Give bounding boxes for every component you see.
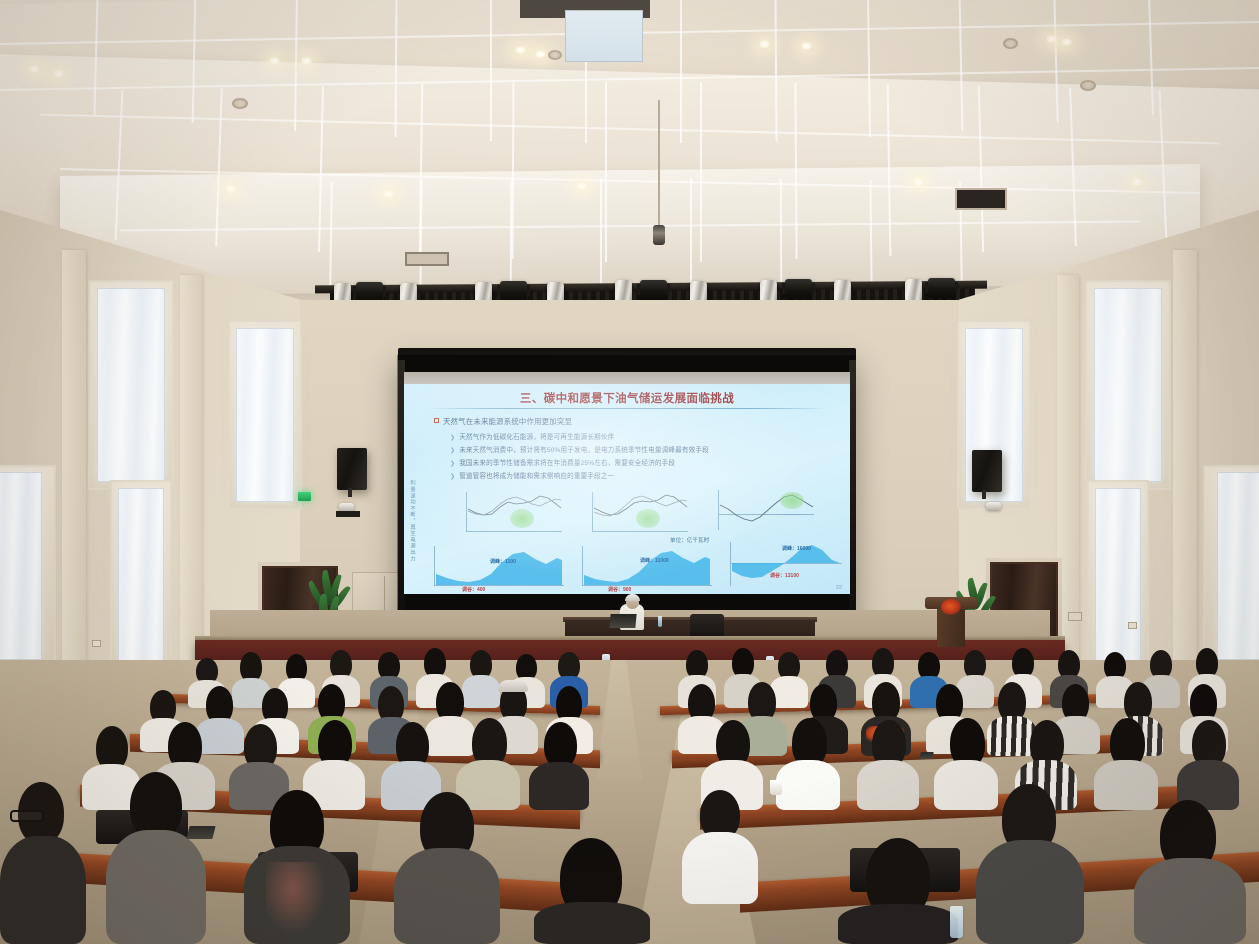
audience-person-torso <box>976 840 1084 944</box>
university-emblem-icon <box>941 599 961 615</box>
ceiling-vent <box>232 98 248 109</box>
ceiling-downlight <box>800 42 813 51</box>
presentation-slide: 三、碳中和愿景下油气储运发展面临挑战 天然气在未来能源系统中作用更加突显 ❯天然… <box>404 384 850 594</box>
ceiling-grid-line <box>600 178 602 292</box>
security-camera-right <box>986 502 1001 510</box>
ceiling-downlight <box>1045 35 1058 44</box>
slide-sub-bullet-2-text: 未来天然气消费中，预计将有50%用于发电，是电力系统季节性电量调峰最有效手段 <box>459 447 709 454</box>
chart-x-label <box>513 534 514 539</box>
bullet-square-icon <box>434 418 439 423</box>
slide-sub-bullet-4-text: 管道管容也将成为储能和需求侧响应的重要手段之一 <box>459 473 614 480</box>
ceiling-vent <box>1080 80 1096 91</box>
chart-highlight-blob <box>636 509 660 528</box>
ceiling-skylight-panel <box>565 10 643 62</box>
slide-area-chart-3: 调峰：16000 调谷：13100 <box>730 542 842 586</box>
stage-spotlight-fresnel <box>500 281 527 301</box>
ceiling-vent <box>548 50 562 60</box>
slide-line-chart-2 <box>592 492 688 532</box>
presenter-hair <box>625 594 640 601</box>
slide-area-chart-1: 调峰：1100 调谷：400 <box>434 546 564 586</box>
ceiling-downlight <box>52 70 65 79</box>
ceiling-downlight <box>28 65 41 74</box>
chevron-right-icon: ❯ <box>450 435 455 441</box>
wall-outlet <box>92 640 101 647</box>
slide-line-chart-3 <box>718 490 814 530</box>
exit-sign-icon <box>298 492 311 501</box>
wall-pilaster <box>1173 250 1197 680</box>
empty-chair-on-stage <box>690 614 724 638</box>
ceiling-downlight <box>1130 178 1143 187</box>
water-bottle-on-table <box>658 616 662 627</box>
presenter-laptop <box>609 614 636 628</box>
audience-person-torso <box>529 762 589 810</box>
window-panel <box>1217 472 1259 660</box>
slide-title: 三、碳中和愿景下油气储运发展面临挑战 <box>404 390 850 406</box>
ceiling-downlight <box>912 178 925 187</box>
ceiling-downlight <box>1060 38 1073 47</box>
slide-sub-bullet-1: ❯天然气作为低碳化石能源，将是可再生能源长期伙伴 <box>450 431 614 441</box>
window-panel <box>0 472 42 660</box>
slide-sub-bullet-1-text: 天然气作为低碳化石能源，将是可再生能源长期伙伴 <box>459 434 614 441</box>
stage-spotlight-fresnel <box>928 278 955 298</box>
auditorium-scene: 三、碳中和愿景下油气储运发展面临挑战 天然气在未来能源系统中作用更加突显 ❯天然… <box>0 0 1259 944</box>
slide-sub-bullet-3-text: 我国未来的季节性储备需求将在年消费量25%左右，需要安全经济的手段 <box>459 460 675 467</box>
ceiling-downlight <box>224 185 237 194</box>
wall-outlet <box>1128 622 1137 629</box>
chart-valley-label: 调谷：900 <box>608 586 631 593</box>
chart-peak-label: 调峰：11000 <box>640 557 669 564</box>
slide-page-number: 22 <box>836 585 842 591</box>
wall-speaker-left <box>337 448 367 490</box>
chevron-right-icon: ❯ <box>450 474 455 480</box>
ceiling-grid-line <box>700 82 702 262</box>
audience-person-torso <box>106 830 206 944</box>
ceiling-downlight <box>268 57 281 66</box>
ceiling-downlight <box>575 182 588 191</box>
stage-spotlight-fresnel <box>356 282 383 302</box>
camera-mount-arm <box>348 488 352 497</box>
coffee-cup <box>770 780 782 795</box>
baseball-cap <box>498 680 528 692</box>
audience-person-torso <box>857 760 919 810</box>
pendant-light-rod <box>658 100 660 228</box>
ceiling-grid-line <box>490 0 492 141</box>
camera-bracket <box>336 511 360 517</box>
chart-peak-label: 调峰：16000 <box>782 545 811 552</box>
chart-highlight-blob <box>780 492 804 509</box>
chart-area-path <box>434 546 564 586</box>
audience-person-torso <box>534 902 650 944</box>
slide-area-chart-2: 调峰：11000 调谷：900 <box>582 546 712 586</box>
chart-title <box>513 485 514 490</box>
audience-person-torso <box>462 675 500 708</box>
smartphone-on-desk <box>919 752 934 759</box>
audience-person-torso <box>394 848 500 944</box>
audience-person-torso <box>682 832 758 904</box>
ceiling-grid-line <box>680 0 682 143</box>
audience-person-torso <box>776 760 840 810</box>
audience-person-torso <box>1094 760 1158 810</box>
audience-person-torso <box>934 760 998 810</box>
camera-mount-arm <box>982 490 986 499</box>
slide-line-chart-1 <box>466 492 562 532</box>
slide-unit-label: 单位：亿千瓦时 <box>670 536 709 544</box>
ceiling-downlight <box>382 190 395 199</box>
lectern <box>925 597 977 647</box>
slide-sub-bullet-2: ❯未来天然气消费中，预计将有50%用于发电，是电力系统季节性电量调峰最有效手段 <box>450 444 709 454</box>
chevron-right-icon: ❯ <box>450 461 455 467</box>
water-bottle-foreground <box>950 906 963 938</box>
slide-sub-bullet-3: ❯我国未来的季节性储备需求将在年消费量25%左右，需要安全经济的手段 <box>450 457 675 467</box>
chart-valley-label: 调谷：400 <box>462 586 485 593</box>
audience-person-torso <box>196 718 244 754</box>
wall-speaker-right <box>972 450 1002 492</box>
slide-main-bullet-text: 天然气在未来能源系统中作用更加突显 <box>443 417 572 426</box>
audience-person-torso <box>838 904 958 944</box>
ceiling-grid-line <box>690 178 692 292</box>
slide-main-bullet: 天然气在未来能源系统中作用更加突显 <box>434 416 572 427</box>
chevron-right-icon: ❯ <box>450 448 455 454</box>
window-panel <box>236 328 294 502</box>
ceiling-downlight <box>300 57 313 66</box>
ceiling-access-hatch <box>405 252 449 266</box>
ceiling-downlight <box>534 50 547 59</box>
ceiling-access-hatch <box>955 188 1007 210</box>
chart-peak-label: 调峰：1100 <box>490 558 516 565</box>
chart-valley-label: 调谷：13100 <box>770 572 799 579</box>
wall-switch-panel <box>1068 612 1082 621</box>
ceiling-vent <box>1003 38 1018 49</box>
security-camera-left <box>339 503 354 511</box>
window-panel <box>97 288 165 482</box>
slide-title-underline <box>426 408 828 409</box>
stage-spotlight-fresnel <box>640 280 667 300</box>
audience-person-torso <box>425 716 475 756</box>
wall-pilaster <box>180 275 202 685</box>
smartphone-on-desk <box>186 826 215 839</box>
audience-person-torso <box>0 836 86 944</box>
screen-edge-right <box>849 360 856 632</box>
slide-vertical-axis-label: 利量波动不断，再生电源出力 <box>408 480 415 562</box>
ceiling-downlight <box>758 40 771 49</box>
window-panel <box>118 488 164 670</box>
ceiling-downlight <box>514 46 527 55</box>
eyeglasses-icon <box>10 810 44 822</box>
window-panel <box>1095 488 1141 670</box>
chart-highlight-blob <box>510 509 534 528</box>
graphic-tshirt-print <box>266 862 330 940</box>
chart-area-path <box>582 546 712 586</box>
ceiling-grid-line <box>605 82 607 262</box>
pendant-light <box>653 225 665 245</box>
audience-person-torso <box>1134 858 1246 944</box>
stage-spotlight-fresnel <box>785 279 812 299</box>
wall-pilaster <box>62 250 86 680</box>
window-panel <box>1094 288 1162 482</box>
slide-sub-bullet-4: ❯管道管容也将成为储能和需求侧响应的重要手段之一 <box>450 470 614 480</box>
